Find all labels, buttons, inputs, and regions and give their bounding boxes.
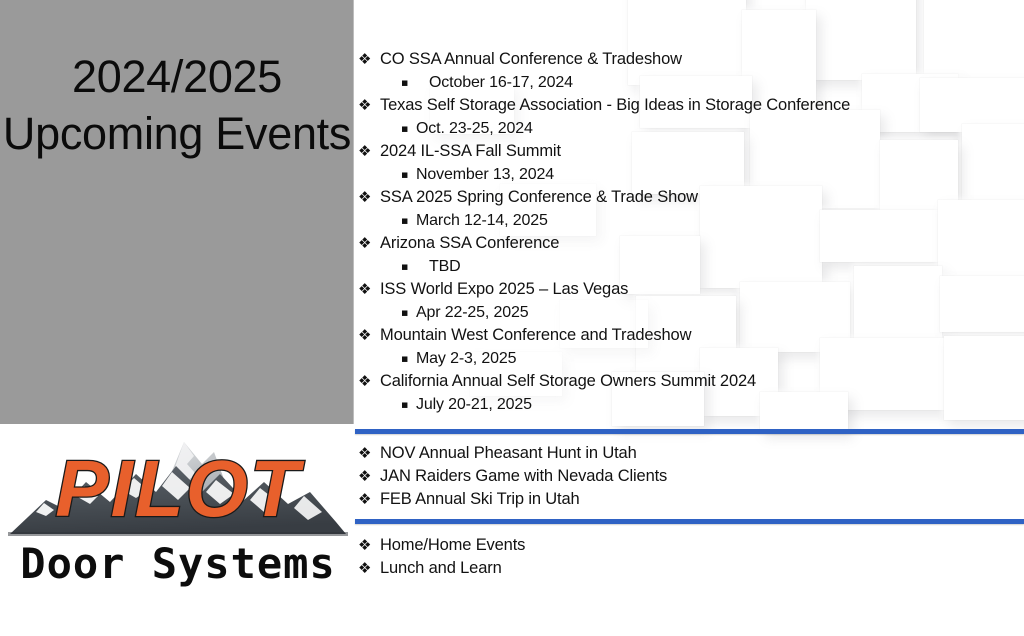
divider-rule-bottom — [355, 519, 1024, 524]
conference-date-label: October 16-17, 2024 — [429, 71, 573, 94]
divider-rule-top — [355, 429, 1024, 434]
conference-date-item: ▪Oct. 23-25, 2024 — [358, 117, 1018, 140]
conference-label: Texas Self Storage Association - Big Ide… — [380, 94, 850, 117]
conference-date-item: ▪May 2-3, 2025 — [358, 347, 1018, 370]
conference-item: ❖SSA 2025 Spring Conference & Trade Show — [358, 186, 1018, 209]
client-event-item: ❖NOV Annual Pheasant Hunt in Utah — [358, 442, 1018, 465]
conference-label: California Annual Self Storage Owners Su… — [380, 370, 756, 393]
square-bullet-icon: ▪ — [401, 255, 429, 278]
diamond-bullet-icon: ❖ — [358, 186, 380, 209]
conference-label: 2024 IL-SSA Fall Summit — [380, 140, 561, 163]
conference-event-list: ❖CO SSA Annual Conference & Tradeshow▪Oc… — [358, 48, 1018, 416]
client-event-item: ❖JAN Raiders Game with Nevada Clients — [358, 465, 1018, 488]
conference-item: ❖Texas Self Storage Association - Big Id… — [358, 94, 1018, 117]
page-title: 2024/2025 Upcoming Events — [0, 48, 354, 162]
conference-date-item: ▪July 20-21, 2025 — [358, 393, 1018, 416]
client-event-label: FEB Annual Ski Trip in Utah — [380, 488, 580, 511]
diamond-bullet-icon: ❖ — [358, 465, 380, 488]
conference-date-item: ▪November 13, 2024 — [358, 163, 1018, 186]
conference-item: ❖Arizona SSA Conference — [358, 232, 1018, 255]
diamond-bullet-icon: ❖ — [358, 232, 380, 255]
diamond-bullet-icon: ❖ — [358, 140, 380, 163]
conference-date-label: March 12-14, 2025 — [416, 209, 548, 232]
diamond-bullet-icon: ❖ — [358, 324, 380, 347]
conference-date-item: ▪Apr 22-25, 2025 — [358, 301, 1018, 324]
slide-canvas: 2024/2025 Upcoming Events — [0, 0, 1024, 636]
square-bullet-icon: ▪ — [401, 301, 416, 324]
conference-date-label: TBD — [429, 255, 461, 278]
diamond-bullet-icon: ❖ — [358, 94, 380, 117]
conference-label: Arizona SSA Conference — [380, 232, 559, 255]
internal-event-item: ❖Home/Home Events — [358, 534, 1018, 557]
square-bullet-icon: ▪ — [401, 71, 429, 94]
diamond-bullet-icon: ❖ — [358, 488, 380, 511]
diamond-bullet-icon: ❖ — [358, 278, 380, 301]
diamond-bullet-icon: ❖ — [358, 534, 380, 557]
conference-date-label: Oct. 23-25, 2024 — [416, 117, 533, 140]
square-bullet-icon: ▪ — [401, 209, 416, 232]
client-event-label: NOV Annual Pheasant Hunt in Utah — [380, 442, 637, 465]
conference-label: ISS World Expo 2025 – Las Vegas — [380, 278, 628, 301]
square-bullet-icon: ▪ — [401, 117, 416, 140]
conference-label: SSA 2025 Spring Conference & Trade Show — [380, 186, 698, 209]
internal-event-label: Home/Home Events — [380, 534, 525, 557]
conference-date-item: ▪October 16-17, 2024 — [358, 71, 1018, 94]
conference-date-item: ▪TBD — [358, 255, 1018, 278]
conference-item: ❖2024 IL-SSA Fall Summit — [358, 140, 1018, 163]
square-bullet-icon: ▪ — [401, 393, 416, 416]
conference-label: CO SSA Annual Conference & Tradeshow — [380, 48, 682, 71]
client-event-item: ❖FEB Annual Ski Trip in Utah — [358, 488, 1018, 511]
client-event-list: ❖NOV Annual Pheasant Hunt in Utah❖JAN Ra… — [358, 442, 1018, 511]
pilot-door-systems-logo-graphic: PILOT Door Systems — [6, 430, 350, 588]
conference-date-item: ▪March 12-14, 2025 — [358, 209, 1018, 232]
company-logo: PILOT Door Systems — [0, 424, 354, 636]
title-panel: 2024/2025 Upcoming Events — [0, 0, 354, 424]
client-event-label: JAN Raiders Game with Nevada Clients — [380, 465, 667, 488]
conference-date-label: Apr 22-25, 2025 — [416, 301, 529, 324]
square-bullet-icon: ▪ — [401, 163, 416, 186]
conference-date-label: May 2-3, 2025 — [416, 347, 516, 370]
conference-label: Mountain West Conference and Tradeshow — [380, 324, 691, 347]
conference-item: ❖California Annual Self Storage Owners S… — [358, 370, 1018, 393]
diamond-bullet-icon: ❖ — [358, 557, 380, 580]
conference-item: ❖CO SSA Annual Conference & Tradeshow — [358, 48, 1018, 71]
diamond-bullet-icon: ❖ — [358, 370, 380, 393]
logo-door-systems-text: Door Systems — [20, 539, 335, 588]
logo-pilot-text: PILOT — [55, 444, 305, 533]
conference-date-label: July 20-21, 2025 — [416, 393, 532, 416]
diamond-bullet-icon: ❖ — [358, 442, 380, 465]
conference-date-label: November 13, 2024 — [416, 163, 554, 186]
conference-item: ❖ISS World Expo 2025 – Las Vegas — [358, 278, 1018, 301]
diamond-bullet-icon: ❖ — [358, 48, 380, 71]
square-bullet-icon: ▪ — [401, 347, 416, 370]
conference-item: ❖Mountain West Conference and Tradeshow — [358, 324, 1018, 347]
internal-event-list: ❖Home/Home Events❖Lunch and Learn — [358, 534, 1018, 580]
internal-event-label: Lunch and Learn — [380, 557, 502, 580]
internal-event-item: ❖Lunch and Learn — [358, 557, 1018, 580]
